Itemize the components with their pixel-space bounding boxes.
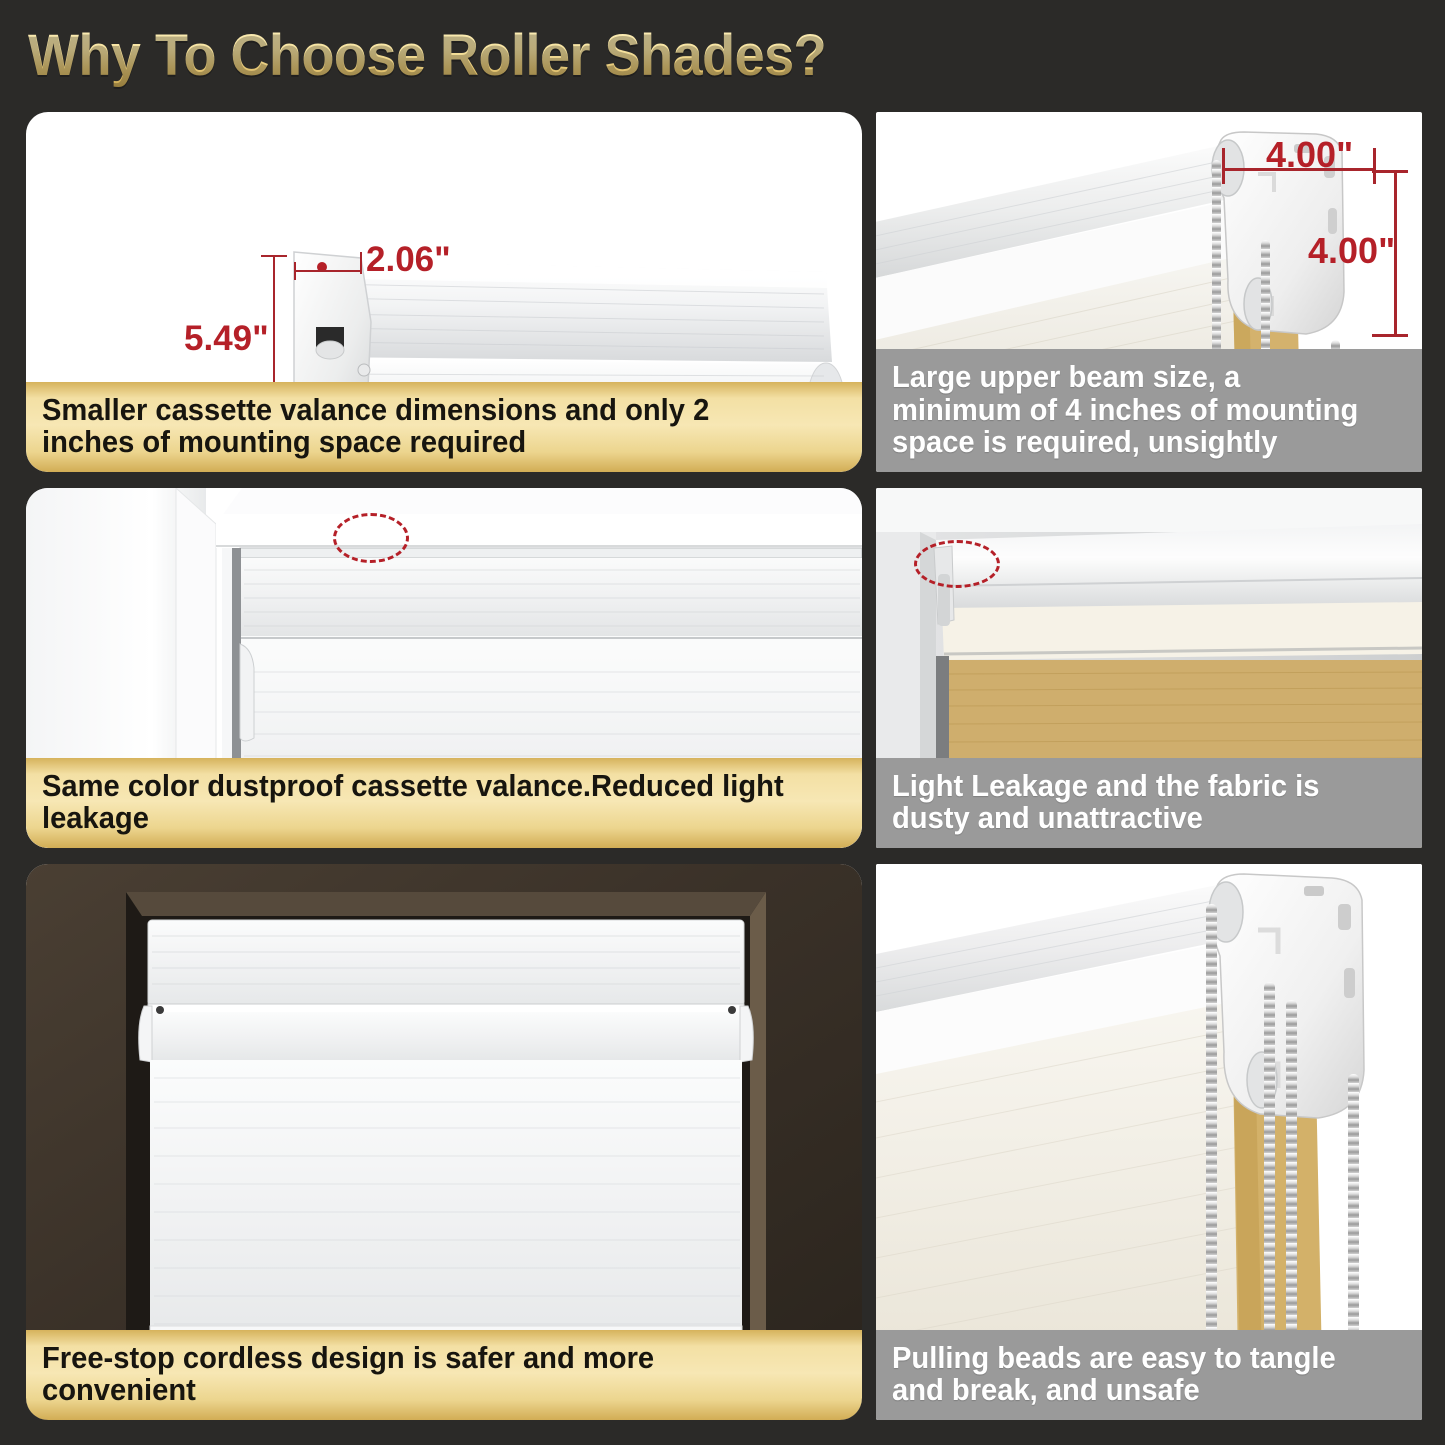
page-title-text: Why To Choose Roller Shades? — [28, 22, 958, 89]
beam-height-tick-top — [1372, 170, 1408, 173]
panel-caption: Light Leakage and the fabric is dusty an… — [876, 758, 1422, 848]
callout-ellipse — [333, 513, 409, 563]
height-dimension-tick-top — [261, 255, 287, 257]
width-dimension-label: 2.06" — [366, 240, 451, 280]
callout-ellipse — [914, 540, 1000, 588]
beam-width-label: 4.00" — [1266, 134, 1353, 176]
panel-caption-text: Smaller cassette valance dimensions and … — [42, 394, 798, 458]
width-dimension-line — [294, 270, 362, 272]
page-title: Why To Choose Roller Shades? — [28, 22, 1028, 94]
panel-large-upper-beam: 4.00" 4.00" Large upper beam size, a min… — [876, 112, 1422, 472]
panel-caption: Smaller cassette valance dimensions and … — [26, 382, 862, 472]
beam-width-tick-left — [1222, 148, 1225, 184]
bead-chain-middle-right — [1286, 1000, 1297, 1372]
panel-light-leakage: Large gap Light Leakage and the fabric i… — [876, 488, 1422, 848]
bead-chain-middle-left — [1264, 982, 1275, 1372]
panel-caption-text: Light Leakage and the fabric is dusty an… — [892, 770, 1375, 834]
panel-caption-text: Free-stop cordless design is safer and m… — [42, 1342, 798, 1406]
bead-chain-right — [1348, 1074, 1359, 1372]
panel-caption-text: Large upper beam size, a minimum of 4 in… — [892, 361, 1375, 458]
panel-caption: Large upper beam size, a minimum of 4 in… — [876, 349, 1422, 472]
height-dimension-label: 5.49" — [184, 319, 269, 359]
width-dimension-tick-right — [360, 252, 362, 274]
panel-smaller-cassette-valance: 5.49" 2.06" Smaller cassette valance dim… — [26, 112, 862, 472]
panel-pulling-beads: Pulling beads are easy to tangle and bre… — [876, 864, 1422, 1420]
panel-caption: Same color dustproof cassette valance.Re… — [26, 758, 862, 848]
beam-width-tick-right — [1373, 148, 1376, 184]
panel-caption-text: Same color dustproof cassette valance.Re… — [42, 770, 798, 834]
panel-dustproof-cassette-valance: smaller gap Same color dustproof cassett… — [26, 488, 862, 848]
panel-free-stop-cordless: Free-stop cordless design is safer and m… — [26, 864, 862, 1420]
beam-height-tick-bottom — [1372, 334, 1408, 337]
bead-chain-left — [1206, 904, 1217, 1372]
panel-caption: Free-stop cordless design is safer and m… — [26, 1330, 862, 1420]
panel-caption-text: Pulling beads are easy to tangle and bre… — [892, 1342, 1375, 1406]
panel-caption: Pulling beads are easy to tangle and bre… — [876, 1330, 1422, 1420]
beam-height-label: 4.00" — [1308, 230, 1395, 272]
